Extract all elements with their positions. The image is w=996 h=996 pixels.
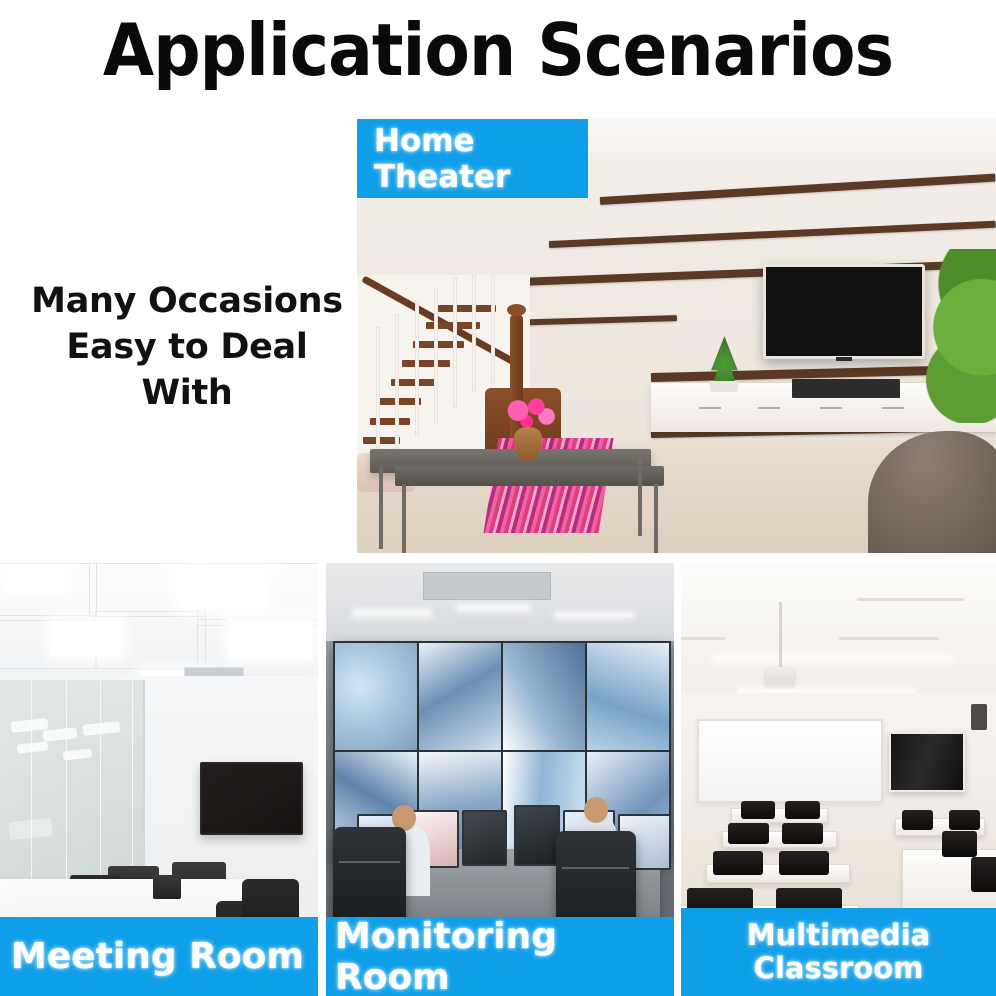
conference-phone-icon [153,875,182,899]
whiteboard [697,719,884,803]
poster-canvas: Application Scenarios Many Occasions Eas… [0,0,996,996]
caption-home-theater: Home Theater [357,119,588,198]
panel-monitoring-room[interactable]: Monitoring Room [326,563,674,996]
speaker-icon [971,704,987,730]
caption-multimedia-classroom: Multimedia Classroom [681,908,996,996]
tv-screen [889,732,965,792]
tv-screen [200,762,303,835]
page-title: Application Scenarios [40,14,956,86]
projector-icon [766,667,794,689]
caption-line-1: Multimedia [747,919,930,952]
tagline-line-2: Easy to Deal With [22,324,352,416]
palm-plant-icon [900,249,996,423]
caption-meeting-room: Meeting Room [0,917,318,996]
panel-home-theater[interactable]: Home Theater [357,119,996,553]
panel-multimedia-classroom[interactable]: Multimedia Classroom [681,563,996,996]
tagline: Many Occasions Easy to Deal With [22,278,352,417]
caption-line-2: Classroom [754,952,924,985]
caption-monitoring-room: Monitoring Room [326,917,674,996]
tagline-line-1: Many Occasions [22,278,352,324]
panel-meeting-room[interactable]: Meeting Room [0,563,318,996]
